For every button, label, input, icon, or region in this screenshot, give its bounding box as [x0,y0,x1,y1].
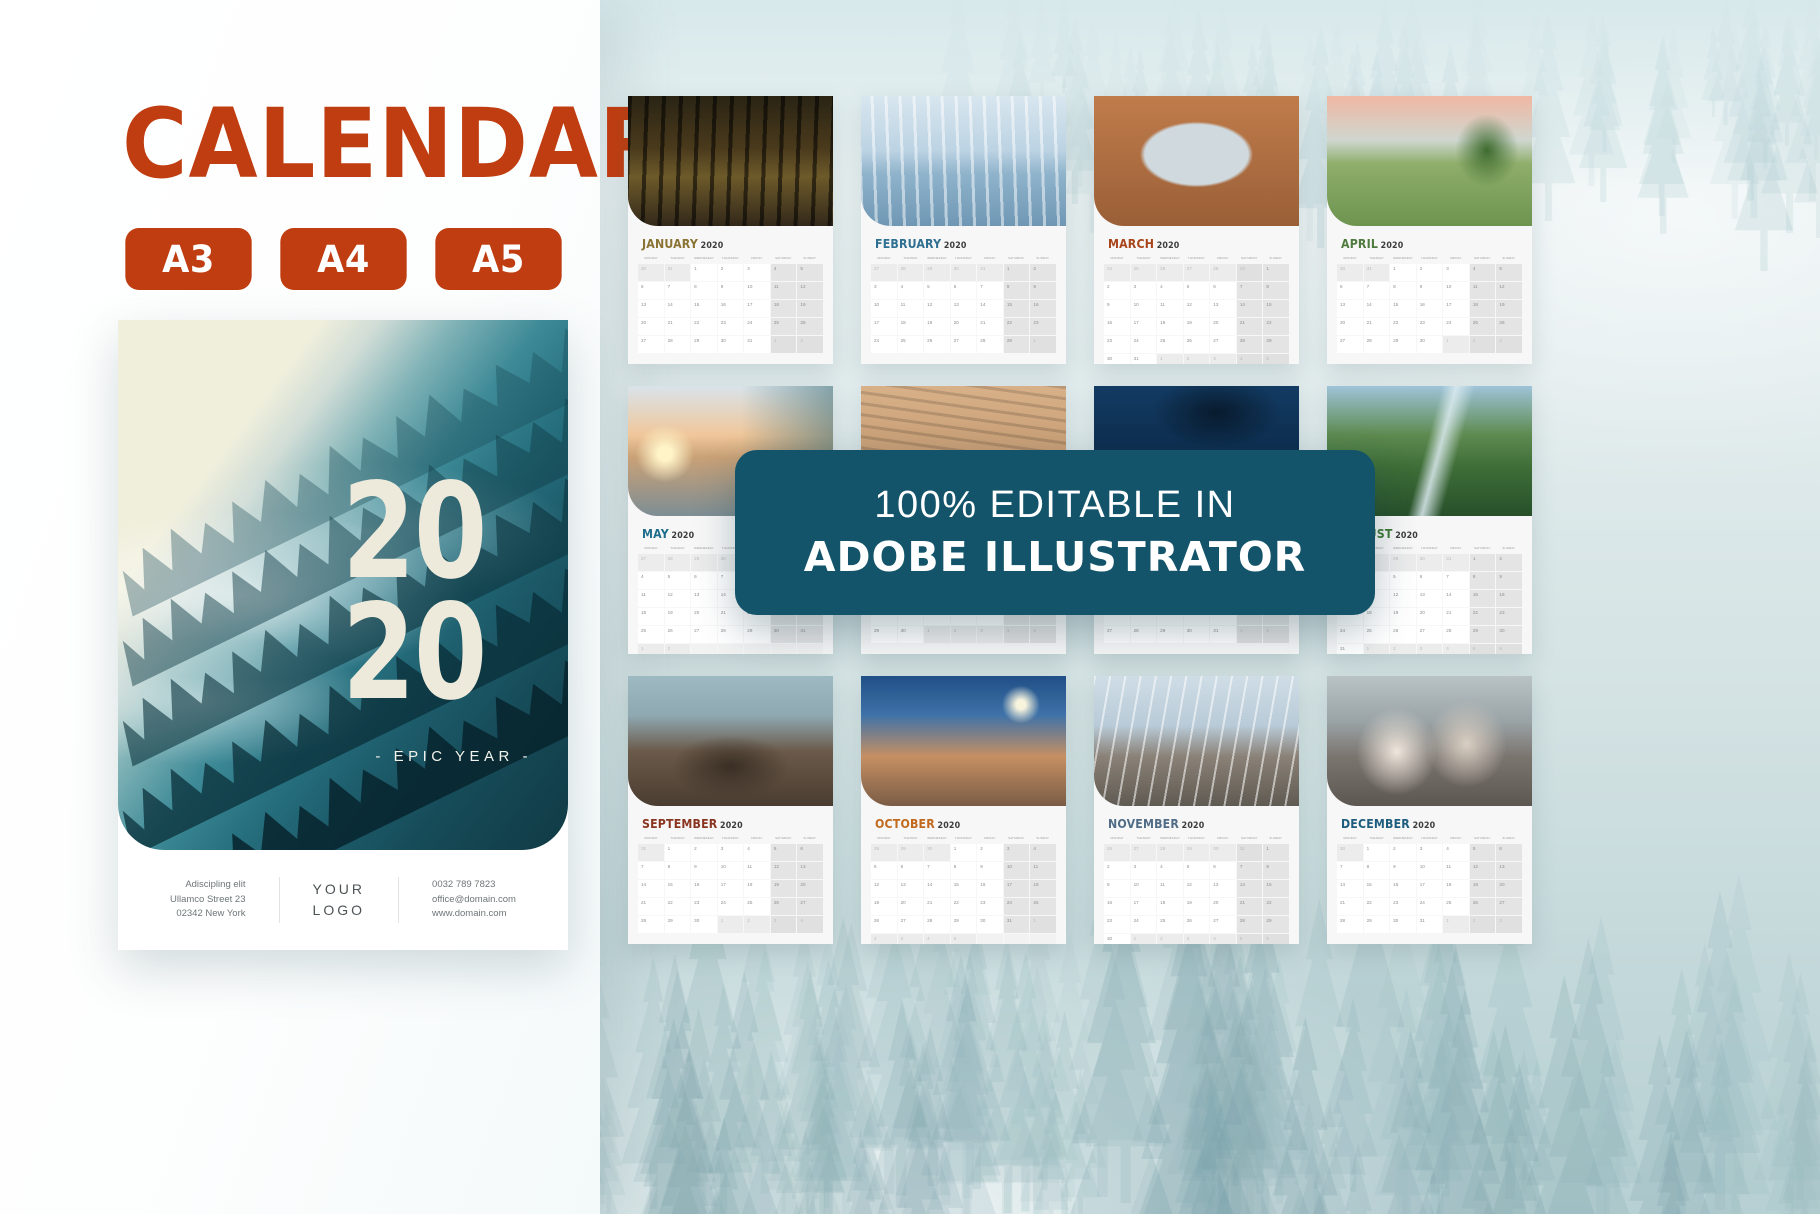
day-cell[interactable]: 28 [1210,264,1236,281]
day-cell[interactable]: 7 [1237,282,1263,299]
day-cell[interactable]: 5 [1237,934,1263,944]
day-cell[interactable]: 29 [1470,626,1496,643]
day-cell[interactable]: 21 [1237,898,1263,915]
day-cell[interactable]: 27 [638,554,664,571]
day-cell[interactable]: 21 [977,318,1003,335]
day-cell[interactable]: 2 [1470,916,1496,933]
day-cell[interactable]: 29 [1237,264,1263,281]
day-cell[interactable]: 27 [797,898,823,915]
day-cell[interactable]: 30 [771,626,797,643]
day-cell[interactable]: 14 [1364,300,1390,317]
day-cell[interactable]: 2 [1157,934,1183,944]
day-cell[interactable]: 14 [977,300,1003,317]
day-cell[interactable]: 2 [744,916,770,933]
day-cell[interactable]: 5 [871,862,897,879]
day-cell[interactable]: 2 [1390,644,1416,654]
day-cell[interactable]: 18 [744,880,770,897]
day-cell[interactable]: 4 [744,844,770,861]
day-cell[interactable]: 16 [1030,300,1056,317]
day-cell[interactable]: 26 [797,318,823,335]
day-cell[interactable]: 2 [1030,264,1056,281]
day-cell[interactable]: 27 [898,916,924,933]
day-cell[interactable]: 10 [1131,300,1157,317]
day-cell[interactable]: 29 [1184,844,1210,861]
day-cell[interactable]: 13 [1337,300,1363,317]
day-cell[interactable]: 19 [771,880,797,897]
day-cell[interactable]: 8 [1470,572,1496,589]
day-cell[interactable]: 16 [718,300,744,317]
day-cell[interactable]: 20 [1337,318,1363,335]
day-cell[interactable]: 17 [1131,898,1157,915]
day-cell[interactable]: 24 [1104,264,1130,281]
day-cell[interactable]: 21 [638,898,664,915]
day-cell[interactable]: 1 [1030,336,1056,353]
day-cell[interactable]: 2 [718,264,744,281]
day-cell[interactable] [718,644,744,654]
day-cell[interactable]: 5 [1030,626,1056,643]
day-cell[interactable]: 2 [691,844,717,861]
day-cell[interactable]: 24 [1417,898,1443,915]
day-cell[interactable]: 11 [638,590,664,607]
day-cell[interactable]: 25 [771,318,797,335]
day-cell[interactable]: 15 [1470,590,1496,607]
day-cell[interactable]: 15 [691,300,717,317]
day-cell[interactable]: 5 [1263,354,1289,364]
day-cell[interactable]: 17 [744,300,770,317]
day-cell[interactable]: 28 [1443,626,1469,643]
day-cell[interactable]: 18 [1364,608,1390,625]
day-cell[interactable]: 3 [1210,354,1236,364]
day-cell[interactable]: 24 [1131,336,1157,353]
day-cell[interactable]: 29 [1364,916,1390,933]
day-cell[interactable]: 3 [1496,916,1522,933]
day-cell[interactable]: 31 [1417,916,1443,933]
day-cell[interactable]: 9 [1104,880,1130,897]
day-cell[interactable]: 4 [771,264,797,281]
day-cell[interactable]: 27 [1496,898,1522,915]
day-cell[interactable]: 21 [1443,608,1469,625]
day-cell[interactable]: 7 [1443,572,1469,589]
day-cell[interactable]: 28 [638,916,664,933]
day-cell[interactable]: 28 [977,336,1003,353]
day-cell[interactable]: 14 [1443,590,1469,607]
day-cell[interactable]: 28 [1337,916,1363,933]
day-cell[interactable]: 28 [1237,336,1263,353]
day-cell[interactable]: 14 [924,880,950,897]
day-cell[interactable]: 10 [1131,880,1157,897]
day-cell[interactable]: 26 [1470,898,1496,915]
day-cell[interactable]: 27 [691,626,717,643]
day-cell[interactable]: 2 [797,336,823,353]
day-cell[interactable]: 12 [1470,862,1496,879]
day-cell[interactable]: 18 [1470,300,1496,317]
day-cell[interactable]: 1 [718,916,744,933]
day-cell[interactable]: 18 [1157,318,1183,335]
day-cell[interactable]: 3 [1184,934,1210,944]
day-cell[interactable]: 30 [1184,626,1210,643]
day-cell[interactable]: 24 [744,318,770,335]
day-cell[interactable]: 1 [1157,354,1183,364]
day-cell[interactable]: 28 [665,554,691,571]
month-card-november[interactable]: NOVEMBER2020MONDAYTUESDAYWEDNESDAYTHURSD… [1094,676,1299,944]
day-cell[interactable]: 6 [797,844,823,861]
day-cell[interactable]: 1 [1131,934,1157,944]
day-cell[interactable]: 20 [691,608,717,625]
day-cell[interactable]: 31 [1237,844,1263,861]
day-cell[interactable]: 23 [1496,608,1522,625]
day-cell[interactable]: 2 [1104,282,1130,299]
day-cell[interactable]: 9 [718,282,744,299]
day-cell[interactable]: 25 [1364,626,1390,643]
day-cell[interactable]: 18 [1443,880,1469,897]
day-cell[interactable]: 17 [1443,300,1469,317]
day-cell[interactable]: 9 [1496,572,1522,589]
day-cell[interactable]: 14 [1237,300,1263,317]
day-cell[interactable]: 4 [924,934,950,944]
day-cell[interactable]: 7 [1364,282,1390,299]
day-cell[interactable]: 21 [665,318,691,335]
day-cell[interactable]: 17 [1131,318,1157,335]
day-cell[interactable]: 14 [638,880,664,897]
day-cell[interactable]: 20 [1210,898,1236,915]
day-cell[interactable]: 4 [1004,626,1030,643]
day-cell[interactable]: 21 [718,608,744,625]
day-cell[interactable]: 17 [718,880,744,897]
day-cell[interactable]: 22 [1004,318,1030,335]
day-cell[interactable]: 3 [1417,844,1443,861]
day-cell[interactable]: 29 [951,916,977,933]
day-cell[interactable]: 10 [718,862,744,879]
day-cell[interactable]: 27 [1184,264,1210,281]
day-cell[interactable]: 1 [1470,554,1496,571]
day-cell[interactable]: 23 [718,318,744,335]
size-badge-a5[interactable]: A5 [435,228,561,290]
day-cell[interactable]: 20 [797,880,823,897]
day-cell[interactable]: 5 [1470,644,1496,654]
day-cell[interactable]: 28 [665,336,691,353]
day-cell[interactable]: 24 [1004,898,1030,915]
day-cell[interactable]: 15 [1263,880,1289,897]
day-cell[interactable]: 1 [1237,626,1263,643]
day-cell[interactable]: 2 [1104,862,1130,879]
day-cell[interactable]: 30 [1496,626,1522,643]
day-cell[interactable]: 13 [898,880,924,897]
day-cell[interactable]: 7 [977,282,1003,299]
day-cell[interactable]: 11 [1443,862,1469,879]
day-cell[interactable]: 8 [1390,282,1416,299]
day-cell[interactable]: 12 [771,862,797,879]
day-cell[interactable]: 21 [1337,898,1363,915]
day-cell[interactable]: 8 [691,282,717,299]
day-cell[interactable]: 24 [1131,916,1157,933]
day-cell[interactable]: 23 [1417,318,1443,335]
day-cell[interactable]: 27 [1417,626,1443,643]
day-cell[interactable]: 3 [718,844,744,861]
day-cell[interactable]: 27 [1210,916,1236,933]
day-cell[interactable]: 16 [977,880,1003,897]
day-cell[interactable]: 12 [1496,282,1522,299]
day-cell[interactable]: 29 [691,336,717,353]
day-cell[interactable]: 30 [1390,916,1416,933]
day-cell[interactable]: 11 [1157,880,1183,897]
day-cell[interactable]: 28 [718,626,744,643]
day-cell[interactable]: 2 [1417,264,1443,281]
day-cell[interactable]: 2 [977,844,1003,861]
day-cell[interactable]: 5 [951,934,977,944]
day-cell[interactable]: 5 [771,844,797,861]
day-cell[interactable]: 5 [924,282,950,299]
day-cell[interactable]: 22 [691,318,717,335]
day-cell[interactable]: 6 [1496,844,1522,861]
day-cell[interactable]: 8 [1263,282,1289,299]
calendar-cover-mockup[interactable]: 20 20 - EPIC YEAR - Adiscipling elit Ull… [118,320,568,950]
day-cell[interactable]: 27 [1104,626,1130,643]
day-cell[interactable]: 16 [1390,880,1416,897]
day-cell[interactable] [1004,934,1030,944]
day-cell[interactable] [797,644,823,654]
day-cell[interactable]: 29 [924,264,950,281]
day-cell[interactable]: 30 [1104,354,1130,364]
day-cell[interactable]: 23 [1104,916,1130,933]
day-cell[interactable]: 2 [1390,844,1416,861]
day-cell[interactable]: 30 [1104,934,1130,944]
day-cell[interactable]: 25 [638,626,664,643]
day-cell[interactable]: 7 [665,282,691,299]
day-cell[interactable]: 25 [1157,916,1183,933]
day-cell[interactable]: 6 [638,282,664,299]
day-cell[interactable]: 10 [871,300,897,317]
day-cell[interactable]: 4 [797,916,823,933]
day-cell[interactable]: 3 [977,626,1003,643]
day-cell[interactable]: 1 [1364,844,1390,861]
day-cell[interactable]: 28 [924,916,950,933]
day-cell[interactable]: 9 [1417,282,1443,299]
day-cell[interactable] [771,644,797,654]
day-cell[interactable]: 18 [1157,898,1183,915]
day-cell[interactable]: 27 [1210,336,1236,353]
day-cell[interactable]: 29 [744,626,770,643]
day-cell[interactable]: 6 [1496,644,1522,654]
month-card-april[interactable]: APRIL2020MONDAYTUESDAYWEDNESDAYTHURSDAYF… [1327,96,1532,364]
day-cell[interactable]: 30 [1337,844,1363,861]
day-cell[interactable]: 30 [1210,844,1236,861]
day-cell[interactable]: 31 [1443,554,1469,571]
day-cell[interactable]: 20 [638,318,664,335]
day-cell[interactable]: 26 [1184,916,1210,933]
day-cell[interactable]: 29 [691,554,717,571]
day-cell[interactable]: 29 [665,916,691,933]
day-cell[interactable]: 10 [1443,282,1469,299]
day-cell[interactable]: 3 [898,934,924,944]
day-cell[interactable]: 1 [665,844,691,861]
day-cell[interactable]: 26 [924,336,950,353]
day-cell[interactable]: 19 [665,608,691,625]
day-cell[interactable]: 20 [898,898,924,915]
day-cell[interactable]: 5 [797,264,823,281]
day-cell[interactable]: 3 [1131,282,1157,299]
day-cell[interactable]: 23 [1104,336,1130,353]
day-cell[interactable] [691,644,717,654]
day-cell[interactable]: 28 [1131,626,1157,643]
day-cell[interactable]: 3 [871,282,897,299]
day-cell[interactable]: 13 [797,862,823,879]
day-cell[interactable]: 23 [691,898,717,915]
day-cell[interactable]: 1 [951,844,977,861]
day-cell[interactable]: 26 [665,626,691,643]
day-cell[interactable]: 30 [898,626,924,643]
day-cell[interactable]: 1 [638,644,664,654]
day-cell[interactable]: 8 [665,862,691,879]
day-cell[interactable]: 14 [665,300,691,317]
day-cell[interactable]: 9 [1030,282,1056,299]
day-cell[interactable]: 8 [1004,282,1030,299]
day-cell[interactable]: 4 [638,572,664,589]
day-cell[interactable]: 31 [797,626,823,643]
day-cell[interactable]: 18 [771,300,797,317]
day-cell[interactable]: 3 [1004,844,1030,861]
day-cell[interactable]: 3 [1417,644,1443,654]
day-cell[interactable]: 25 [1443,898,1469,915]
day-cell[interactable]: 25 [1030,898,1056,915]
day-cell[interactable]: 1 [1443,916,1469,933]
day-cell[interactable]: 9 [977,862,1003,879]
day-cell[interactable]: 19 [1496,300,1522,317]
day-cell[interactable]: 26 [1184,336,1210,353]
day-cell[interactable] [1030,934,1056,944]
day-cell[interactable]: 22 [1263,898,1289,915]
day-cell[interactable]: 28 [898,264,924,281]
day-cell[interactable]: 19 [1184,318,1210,335]
day-cell[interactable]: 5 [1184,862,1210,879]
day-cell[interactable]: 15 [665,880,691,897]
day-cell[interactable]: 4 [1157,282,1183,299]
day-cell[interactable]: 12 [871,880,897,897]
day-cell[interactable]: 27 [951,336,977,353]
size-badge-a4[interactable]: A4 [280,228,406,290]
day-cell[interactable]: 20 [951,318,977,335]
day-cell[interactable]: 26 [1390,626,1416,643]
day-cell[interactable]: 18 [638,608,664,625]
day-cell[interactable]: 9 [691,862,717,879]
day-cell[interactable]: 25 [898,336,924,353]
day-cell[interactable]: 29 [1390,554,1416,571]
day-cell[interactable]: 15 [1364,880,1390,897]
day-cell[interactable]: 14 [1337,880,1363,897]
day-cell[interactable]: 29 [1390,336,1416,353]
day-cell[interactable]: 5 [1496,264,1522,281]
day-cell[interactable]: 24 [1337,626,1363,643]
day-cell[interactable]: 30 [951,264,977,281]
day-cell[interactable]: 17 [1417,880,1443,897]
day-cell[interactable]: 25 [1470,318,1496,335]
day-cell[interactable]: 17 [871,318,897,335]
day-cell[interactable]: 14 [1237,880,1263,897]
day-cell[interactable]: 18 [1030,880,1056,897]
day-cell[interactable]: 9 [1104,300,1130,317]
day-cell[interactable]: 29 [1157,626,1183,643]
day-cell[interactable]: 3 [1443,264,1469,281]
day-cell[interactable]: 6 [1210,282,1236,299]
day-cell[interactable]: 4 [1443,644,1469,654]
day-cell[interactable]: 1 [771,336,797,353]
day-cell[interactable]: 13 [951,300,977,317]
day-cell[interactable]: 11 [898,300,924,317]
day-cell[interactable]: 24 [1443,318,1469,335]
day-cell[interactable]: 2 [1263,626,1289,643]
day-cell[interactable]: 2 [871,934,897,944]
day-cell[interactable]: 2 [1184,354,1210,364]
day-cell[interactable]: 30 [1417,336,1443,353]
day-cell[interactable]: 9 [1390,862,1416,879]
day-cell[interactable]: 31 [744,336,770,353]
day-cell[interactable]: 2 [951,626,977,643]
day-cell[interactable]: 26 [871,916,897,933]
day-cell[interactable]: 5 [1470,844,1496,861]
day-cell[interactable]: 27 [638,336,664,353]
day-cell[interactable]: 1 [691,264,717,281]
day-cell[interactable]: 28 [1237,916,1263,933]
day-cell[interactable]: 2 [1496,554,1522,571]
day-cell[interactable]: 27 [1337,336,1363,353]
day-cell[interactable]: 11 [1470,282,1496,299]
day-cell[interactable]: 6 [951,282,977,299]
day-cell[interactable]: 10 [1417,862,1443,879]
day-cell[interactable]: 20 [1210,318,1236,335]
day-cell[interactable]: 22 [665,898,691,915]
day-cell[interactable]: 23 [1030,318,1056,335]
day-cell[interactable]: 1 [1263,844,1289,861]
day-cell[interactable]: 3 [744,264,770,281]
day-cell[interactable]: 20 [1417,608,1443,625]
day-cell[interactable]: 5 [1390,572,1416,589]
day-cell[interactable]: 11 [744,862,770,879]
day-cell[interactable]: 26 [1157,264,1183,281]
day-cell[interactable]: 6 [1263,934,1289,944]
day-cell[interactable]: 12 [665,590,691,607]
day-cell[interactable]: 26 [771,898,797,915]
day-cell[interactable]: 6 [1337,282,1363,299]
day-cell[interactable]: 30 [924,844,950,861]
day-cell[interactable]: 21 [1364,318,1390,335]
day-cell[interactable]: 11 [771,282,797,299]
day-cell[interactable]: 1 [1263,264,1289,281]
day-cell[interactable]: 27 [871,264,897,281]
day-cell[interactable]: 23 [977,898,1003,915]
day-cell[interactable]: 19 [1390,608,1416,625]
day-cell[interactable]: 13 [691,590,717,607]
day-cell[interactable]: 12 [797,282,823,299]
day-cell[interactable]: 25 [1131,264,1157,281]
day-cell[interactable]: 13 [1417,590,1443,607]
day-cell[interactable]: 1 [1390,264,1416,281]
month-card-september[interactable]: SEPTEMBER2020MONDAYTUESDAYWEDNESDAYTHURS… [628,676,833,944]
day-cell[interactable]: 15 [951,880,977,897]
month-card-march[interactable]: MARCH2020MONDAYTUESDAYWEDNESDAYTHURSDAYF… [1094,96,1299,364]
day-cell[interactable]: 26 [1496,318,1522,335]
day-cell[interactable]: 12 [1390,590,1416,607]
day-cell[interactable]: 24 [871,336,897,353]
day-cell[interactable] [977,934,1003,944]
day-cell[interactable]: 16 [1104,898,1130,915]
day-cell[interactable]: 15 [1263,300,1289,317]
day-cell[interactable]: 31 [1364,264,1390,281]
day-cell[interactable]: 4 [898,282,924,299]
day-cell[interactable]: 31 [1337,644,1363,654]
month-card-january[interactable]: JANUARY2020MONDAYTUESDAYWEDNESDAYTHURSDA… [628,96,833,364]
day-cell[interactable]: 31 [1210,626,1236,643]
day-cell[interactable]: 7 [924,862,950,879]
month-card-december[interactable]: DECEMBER2020MONDAYTUESDAYWEDNESDAYTHURSD… [1327,676,1532,944]
